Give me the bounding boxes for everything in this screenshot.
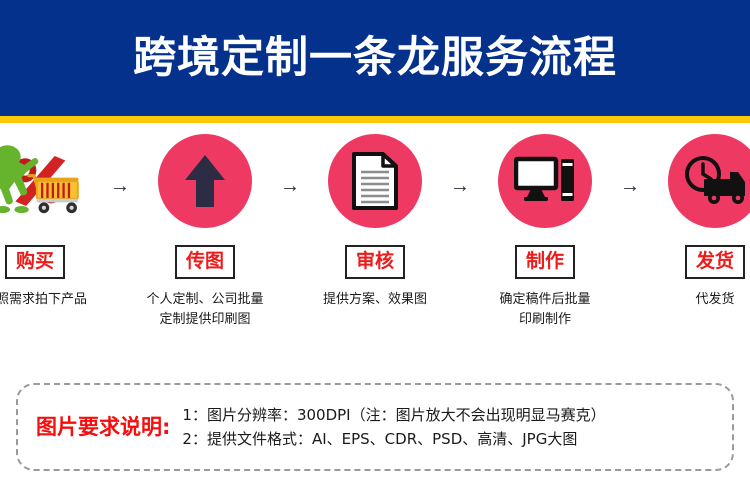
- image-requirements-note: 图片要求说明: 1：图片分辨率：300DPI（注：图片放大不会出现明显马赛克） …: [16, 383, 734, 471]
- step-desc-line: 按照需求拍下产品: [0, 290, 110, 310]
- production-circle: [498, 134, 592, 228]
- flow-step-purchase[interactable]: 购买 按照需求拍下产品: [0, 131, 105, 310]
- step-desc-line: 个人定制、公司批量: [130, 290, 280, 310]
- flow-arrow-2: →: [275, 131, 305, 241]
- flow-arrow-3: →: [445, 131, 475, 241]
- step-desc-upload: 个人定制、公司批量 定制提供印刷图: [130, 290, 280, 329]
- step-desc-line: 提供方案、效果图: [300, 290, 450, 310]
- process-flow-row: 购买 按照需求拍下产品 → 传图 个人定制、公司批量 定制提供印刷图 →: [0, 131, 750, 329]
- note-label: 图片要求说明:: [36, 417, 170, 438]
- step-desc-line: 代发货: [640, 290, 750, 310]
- flow-step-upload[interactable]: 传图 个人定制、公司批量 定制提供印刷图: [135, 131, 275, 329]
- shopper-cart-percent-icon: [0, 131, 85, 231]
- computer-production-icon: [514, 156, 576, 206]
- step-desc-shipping: 代发货: [640, 290, 750, 310]
- step-desc-review: 提供方案、效果图: [300, 290, 450, 310]
- note-lines: 1：图片分辨率：300DPI（注：图片放大不会出现明显马赛克） 2：提供文件格式…: [182, 406, 605, 449]
- step-badge-purchase: 购买: [5, 245, 65, 279]
- step-desc-line: 确定稿件后批量: [470, 290, 620, 310]
- header-accent-bar: [0, 116, 750, 123]
- step-desc-line: 定制提供印刷图: [130, 310, 280, 330]
- step-badge-shipping: 发货: [685, 245, 745, 279]
- note-line-1: 1：图片分辨率：300DPI（注：图片放大不会出现明显马赛克）: [182, 406, 605, 425]
- flow-step-production[interactable]: 制作 确定稿件后批量 印刷制作: [475, 131, 615, 329]
- upload-icon-holder: [155, 131, 255, 231]
- step-desc-line: 印刷制作: [470, 310, 620, 330]
- review-circle: [328, 134, 422, 228]
- upload-arrow-icon: [182, 152, 228, 210]
- shipping-circle: [668, 134, 750, 228]
- flow-arrow-4: →: [615, 131, 645, 241]
- step-badge-production: 制作: [515, 245, 575, 279]
- production-icon-holder: [495, 131, 595, 231]
- header-banner: 跨境定制一条龙服务流程: [0, 0, 750, 116]
- document-review-icon: [350, 151, 400, 211]
- flow-step-review[interactable]: 审核 提供方案、效果图: [305, 131, 445, 310]
- shipping-icon-holder: [665, 131, 750, 231]
- flow-step-shipping[interactable]: 发货 代发货: [645, 131, 750, 310]
- page-title: 跨境定制一条龙服务流程: [133, 37, 617, 80]
- flow-arrow-1: →: [105, 131, 135, 241]
- delivery-truck-clock-icon: [682, 155, 748, 207]
- note-line-2: 2：提供文件格式：AI、EPS、CDR、PSD、高清、JPG大图: [182, 430, 605, 449]
- step-badge-review: 审核: [345, 245, 405, 279]
- upload-circle: [158, 134, 252, 228]
- step-desc-purchase: 按照需求拍下产品: [0, 290, 110, 310]
- step-desc-production: 确定稿件后批量 印刷制作: [470, 290, 620, 329]
- step-badge-upload: 传图: [175, 245, 235, 279]
- review-icon-holder: [325, 131, 425, 231]
- process-flow-section: 购买 按照需求拍下产品 → 传图 个人定制、公司批量 定制提供印刷图 →: [0, 123, 750, 368]
- shopper-cart-percent-icon-svg: [0, 131, 85, 231]
